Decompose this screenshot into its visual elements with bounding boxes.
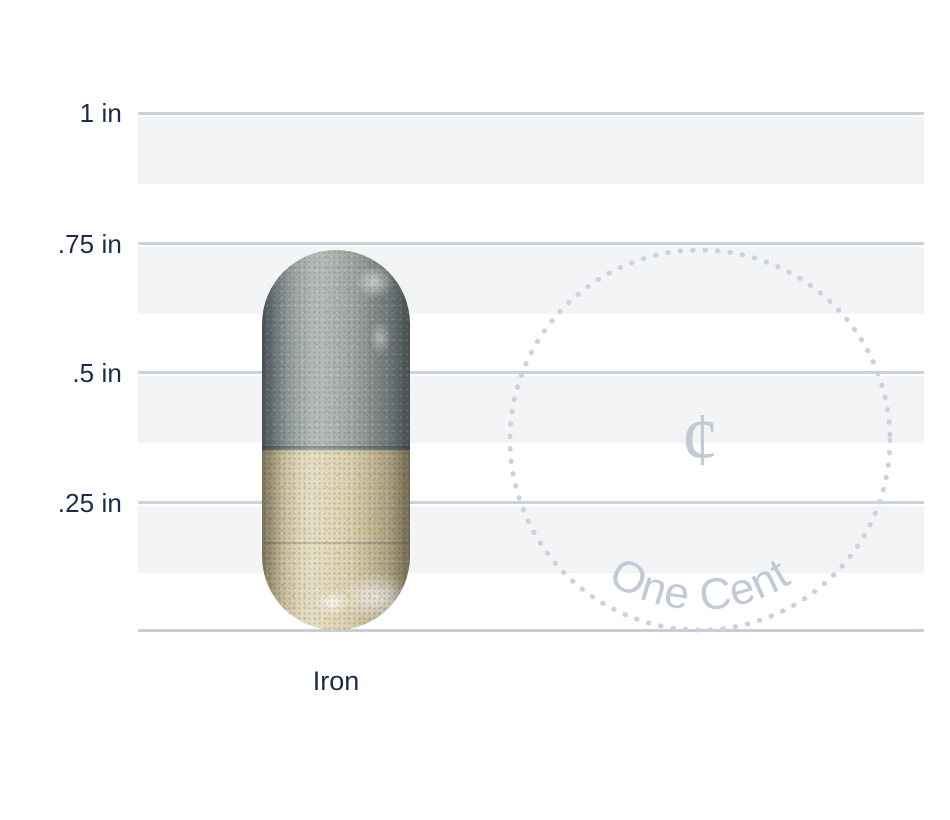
cent-symbol-icon: ¢	[507, 402, 893, 478]
capsule-shape	[262, 250, 410, 630]
capsule-seam-secondary	[264, 542, 408, 544]
y-tick-label-5in: .5 in	[72, 360, 122, 386]
category-label-iron: Iron	[262, 668, 410, 695]
size-comparison-chart: 1 in .75 in .5 in .25 in One Cent ¢	[0, 0, 950, 820]
cap-grain-texture	[262, 250, 410, 450]
iron-capsule	[262, 250, 410, 630]
capsule-cap-half	[262, 250, 410, 450]
coin-reference: One Cent ¢	[507, 247, 893, 633]
y-tick-label-25in: .25 in	[58, 490, 122, 516]
coin-caption-text: One Cent	[602, 548, 798, 620]
gridline-75in	[138, 242, 924, 245]
grid-band-1	[138, 117, 924, 184]
y-tick-label-1in: 1 in	[80, 100, 122, 126]
y-tick-label-75in: .75 in	[58, 231, 122, 257]
capsule-seam	[262, 446, 410, 452]
capsule-body-half	[262, 436, 410, 630]
y-axis-tick-labels: 1 in .75 in .5 in .25 in	[0, 112, 122, 632]
gridline-1in	[138, 112, 924, 115]
powder-grain-texture	[262, 436, 410, 630]
